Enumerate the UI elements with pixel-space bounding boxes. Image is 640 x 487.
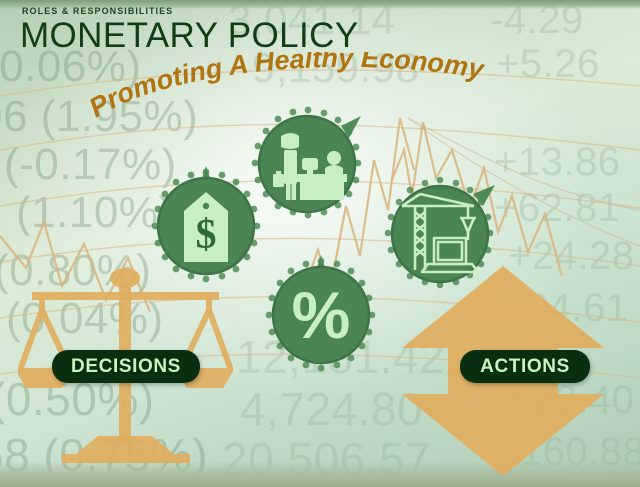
slide-canvas: (0.06%) 06 (1.95%) (-0.17%) (1.10%) (0.8… bbox=[0, 0, 640, 487]
bg-number: 4,724.80 bbox=[240, 382, 423, 436]
icon-construction[interactable] bbox=[378, 172, 502, 294]
percent-glyph: % bbox=[292, 278, 351, 352]
svg-text:$: $ bbox=[196, 212, 217, 258]
subtitle-arc: Promoting A Healthy Economy bbox=[0, 52, 640, 122]
bg-number: -4.29 bbox=[490, 0, 584, 43]
actions-label-text: ACTIONS bbox=[480, 356, 570, 378]
page-title: MONETARY POLICY bbox=[20, 16, 359, 56]
actions-label[interactable]: ACTIONS bbox=[460, 350, 590, 383]
subtitle-text: Promoting A Healthy Economy bbox=[84, 52, 488, 122]
bg-number: +13.86 bbox=[494, 140, 620, 185]
icon-interest-rate[interactable]: % bbox=[258, 252, 384, 378]
bg-number: +62.81 bbox=[494, 186, 620, 231]
kicker-label: ROLES & RESPONSIBILITIES bbox=[22, 6, 173, 16]
decisions-label[interactable]: DECISIONS bbox=[52, 350, 200, 383]
decisions-label-text: DECISIONS bbox=[71, 356, 181, 378]
